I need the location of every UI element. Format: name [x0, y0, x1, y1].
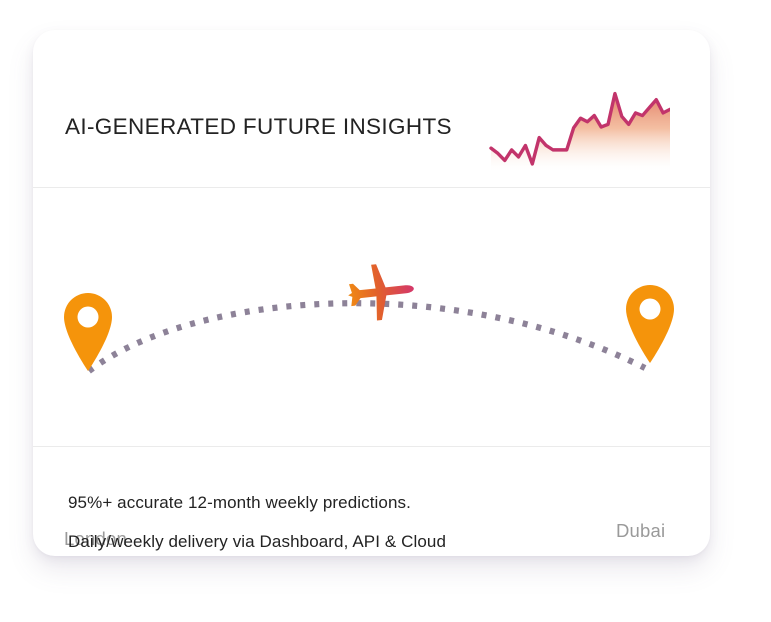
map-pin-dubai-icon[interactable] — [626, 285, 674, 363]
footer-accuracy-text: 95%+ accurate 12-month weekly prediction… — [68, 493, 411, 513]
sparkline-chart — [454, 74, 670, 179]
dotted-flight-path-icon — [89, 303, 645, 371]
insights-card: AI-GENERATED FUTURE INSIGHTS — [33, 30, 710, 556]
page-title: AI-GENERATED FUTURE INSIGHTS — [65, 114, 452, 140]
card-footer: 95%+ accurate 12-month weekly prediction… — [33, 447, 710, 556]
flight-route-illustration: London Dubai — [33, 188, 710, 446]
map-pin-london-icon[interactable] — [64, 293, 112, 371]
footer-delivery-text: Daily/weekly delivery via Dashboard, API… — [68, 532, 446, 552]
screen-root: AI-GENERATED FUTURE INSIGHTS — [0, 0, 771, 622]
airplane-icon — [345, 261, 416, 324]
sparkline-area — [491, 94, 670, 171]
card-header: AI-GENERATED FUTURE INSIGHTS — [33, 30, 710, 187]
